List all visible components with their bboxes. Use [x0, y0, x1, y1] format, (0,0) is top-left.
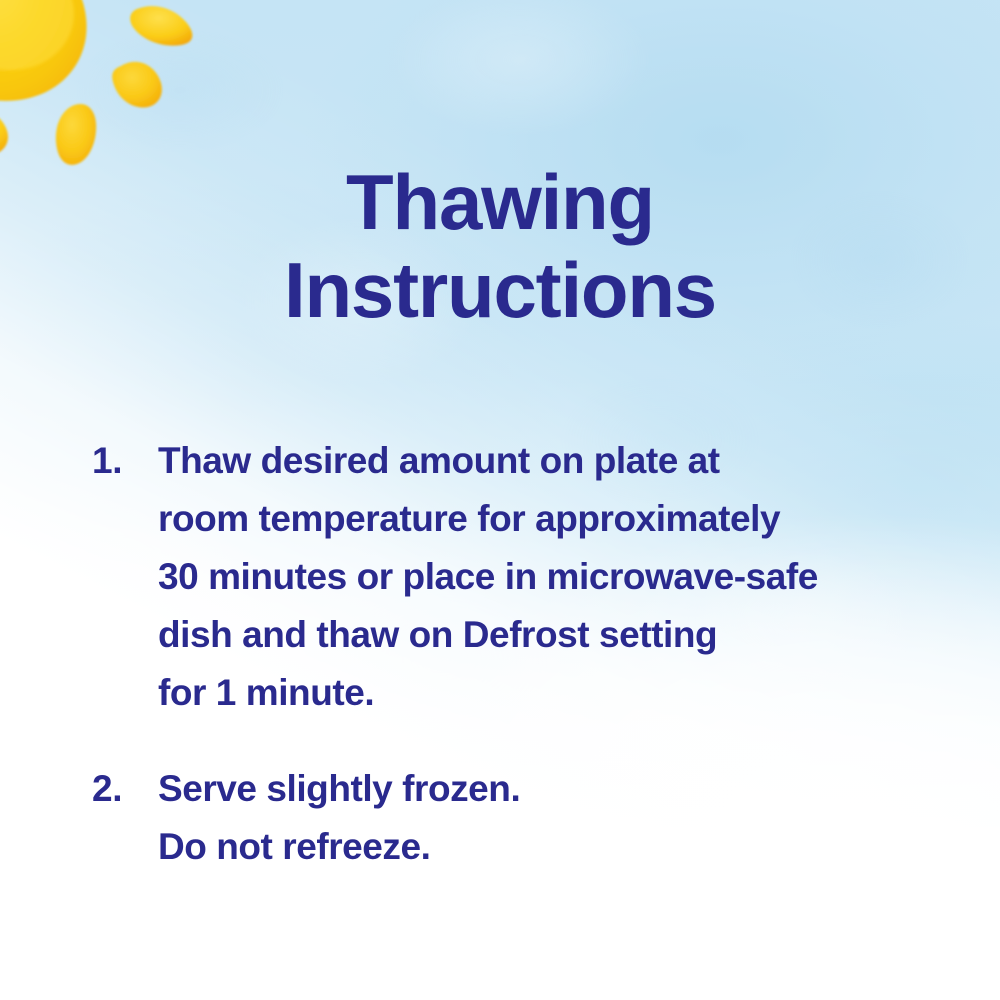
list-item-number: 1.	[92, 432, 158, 490]
page-title: Thawing Instructions	[0, 158, 1000, 334]
list-item-number: 2.	[92, 760, 158, 818]
thawing-instructions-card: Thawing Instructions 1. Thaw desired amo…	[0, 0, 1000, 1000]
list-item: 1. Thaw desired amount on plate at room …	[92, 432, 962, 722]
list-item-text: Serve slightly frozen. Do not refreeze.	[158, 760, 962, 876]
instruction-list: 1. Thaw desired amount on plate at room …	[92, 432, 962, 876]
list-item-text: Thaw desired amount on plate at room tem…	[158, 432, 962, 722]
list-item: 2. Serve slightly frozen. Do not refreez…	[92, 760, 962, 876]
content-area: Thawing Instructions 1. Thaw desired amo…	[0, 0, 1000, 1000]
